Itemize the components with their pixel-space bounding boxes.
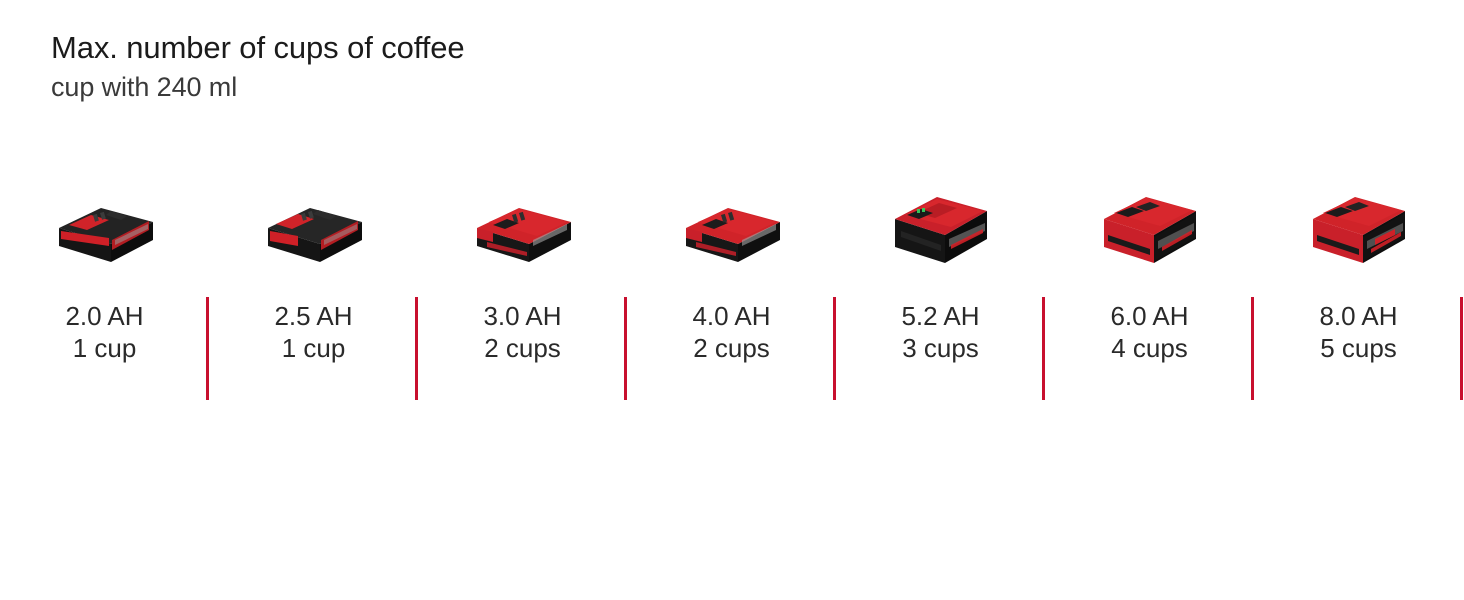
battery-capacity: 5.2 AH (901, 300, 979, 332)
battery-label-block: 3.0 AH 2 cups (483, 300, 561, 364)
heading-block: Max. number of cups of coffee cup with 2… (51, 28, 465, 106)
battery-column-8-0ah: 8.0 AH 5 cups (1254, 170, 1463, 405)
battery-cups: 2 cups (483, 332, 561, 364)
battery-pack-52ah-icon (836, 170, 1045, 280)
battery-column-4-0ah: 4.0 AH 2 cups (627, 170, 836, 405)
battery-label-block: 5.2 AH 3 cups (901, 300, 979, 364)
column-divider (1460, 297, 1463, 400)
battery-pack-8ah-icon (1254, 170, 1463, 280)
page-subtitle: cup with 240 ml (51, 68, 465, 106)
battery-capacity: 3.0 AH (483, 300, 561, 332)
battery-label-block: 6.0 AH 4 cups (1110, 300, 1188, 364)
battery-pack-25ah-icon (209, 170, 418, 280)
battery-capacity: 2.0 AH (65, 300, 143, 332)
battery-capacity: 2.5 AH (274, 300, 352, 332)
battery-capacity: 8.0 AH (1319, 300, 1397, 332)
battery-column-2-5ah: 2.5 AH 1 cup (209, 170, 418, 405)
infographic-page: Max. number of cups of coffee cup with 2… (0, 0, 1464, 600)
battery-cups: 1 cup (65, 332, 143, 364)
battery-cups: 5 cups (1319, 332, 1397, 364)
battery-cups: 2 cups (692, 332, 770, 364)
battery-pack-2ah-icon (0, 170, 209, 280)
battery-column-3-0ah: 3.0 AH 2 cups (418, 170, 627, 405)
battery-cups: 3 cups (901, 332, 979, 364)
battery-column-6-0ah: 6.0 AH 4 cups (1045, 170, 1254, 405)
battery-column-5-2ah: 5.2 AH 3 cups (836, 170, 1045, 405)
battery-pack-6ah-icon (1045, 170, 1254, 280)
battery-label-block: 2.5 AH 1 cup (274, 300, 352, 364)
battery-comparison-row: 2.0 AH 1 cup (0, 170, 1464, 405)
battery-pack-4ah-icon (627, 170, 836, 280)
battery-label-block: 2.0 AH 1 cup (65, 300, 143, 364)
battery-capacity: 4.0 AH (692, 300, 770, 332)
battery-cups: 4 cups (1110, 332, 1188, 364)
battery-column-2-0ah: 2.0 AH 1 cup (0, 170, 209, 405)
battery-cups: 1 cup (274, 332, 352, 364)
battery-label-block: 8.0 AH 5 cups (1319, 300, 1397, 364)
battery-capacity: 6.0 AH (1110, 300, 1188, 332)
battery-label-block: 4.0 AH 2 cups (692, 300, 770, 364)
page-title: Max. number of cups of coffee (51, 28, 465, 68)
battery-pack-3ah-icon (418, 170, 627, 280)
